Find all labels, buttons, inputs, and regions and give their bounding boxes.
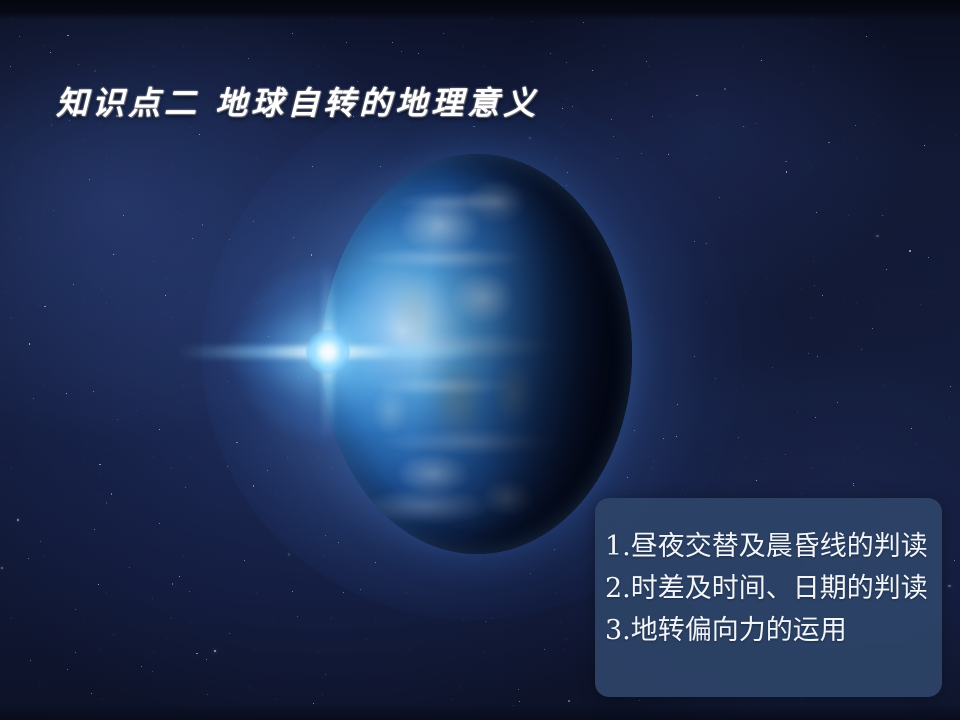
list-item: 1.昼夜交替及晨昏线的判读 (605, 526, 934, 568)
top-letterbox-band (0, 0, 960, 20)
list-item: 3.地转偏向力的运用 (605, 610, 934, 652)
slide-title: 知识点二 地球自转的地理意义 (56, 78, 539, 124)
earth-limb-highlight (322, 154, 632, 554)
slide-canvas: 知识点二 地球自转的地理意义 1.昼夜交替及晨昏线的判读 2.时差及时间、日期的… (0, 0, 960, 720)
earth-globe (322, 154, 632, 554)
list-item: 2.时差及时间、日期的判读 (605, 568, 934, 610)
bottom-letterbox-band (0, 704, 960, 720)
objectives-panel: 1.昼夜交替及晨昏线的判读 2.时差及时间、日期的判读 3.地转偏向力的运用 (595, 498, 942, 697)
